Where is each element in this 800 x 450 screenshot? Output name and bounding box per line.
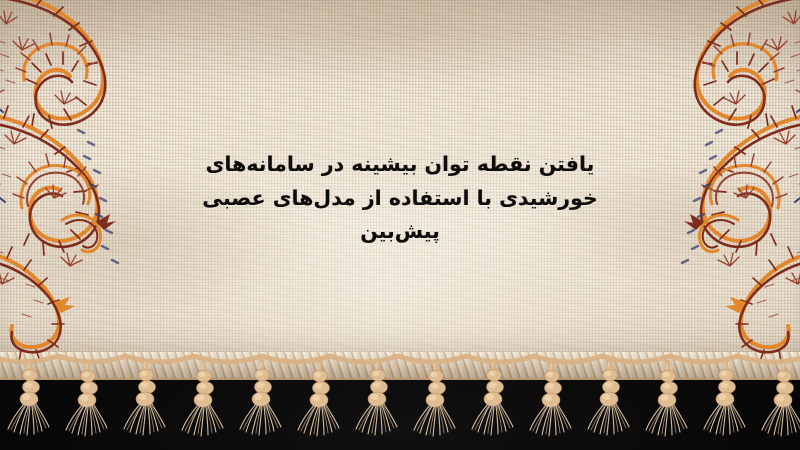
cloth-bottom-selvedge bbox=[0, 352, 800, 380]
title-line-3: پیش‌بین bbox=[0, 215, 800, 249]
slide-title: یافتن نقطه توان بیشینه در سامانه‌های خور… bbox=[0, 148, 800, 249]
slide-canvas: یافتن نقطه توان بیشینه در سامانه‌های خور… bbox=[0, 0, 800, 450]
title-line-2: خورشیدی با استفاده از مدل‌های عصبی bbox=[0, 182, 800, 216]
title-line-1: یافتن نقطه توان بیشینه در سامانه‌های bbox=[0, 148, 800, 182]
